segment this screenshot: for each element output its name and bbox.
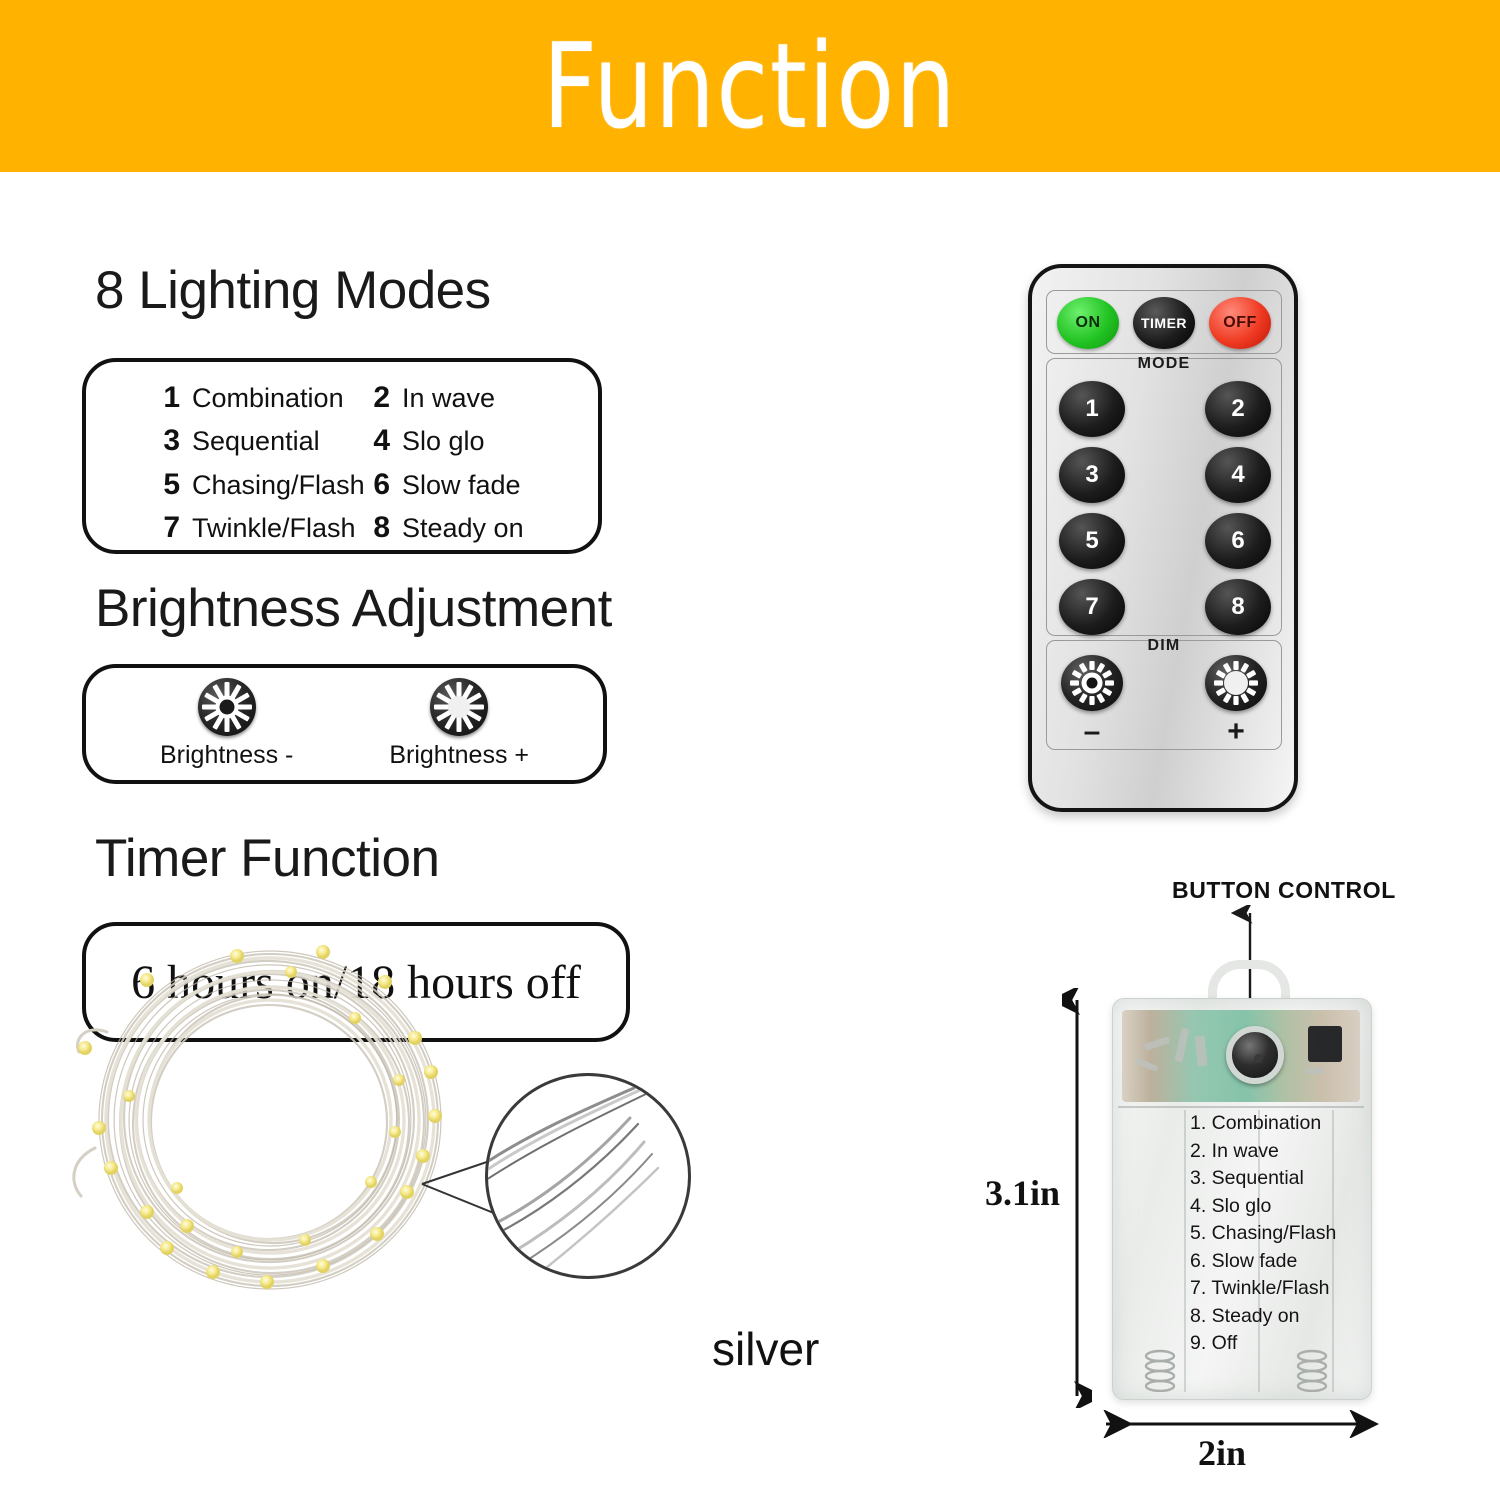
remote-dim-panel: DIM [1046,640,1282,750]
mode-label: Slo glo [402,426,485,457]
mode-item: 5 Chasing/Flash [86,468,356,502]
remote-mode-button-3[interactable]: 3 [1059,447,1125,503]
mode-label: Chasing/Flash [192,470,365,501]
remote-dim-down-icon[interactable] [1061,655,1123,711]
mode-label: Sequential [192,426,320,457]
remote-mode-button-5[interactable]: 5 [1059,513,1125,569]
remote-mode-button-6[interactable]: 6 [1205,513,1271,569]
remote-mode-button-7[interactable]: 7 [1059,579,1125,635]
battery-mode-item: 8. Steady on [1190,1303,1370,1331]
remote-mode-button-8[interactable]: 8 [1205,579,1271,635]
battery-spring [1140,1348,1180,1392]
mode-number: 3 [146,424,180,458]
brightness-box: Brightness - Bri [82,664,607,784]
mode-item: 1 Combination [86,381,356,415]
remote-dim-up-icon[interactable] [1205,655,1267,711]
remote-control[interactable]: ON TIMER OFF MODE 1 2 3 4 5 6 7 8 DIM [1028,264,1298,812]
remote-off-button[interactable]: OFF [1209,297,1271,349]
control-button[interactable] [1226,1026,1284,1084]
battery-mode-item: 9. Off [1190,1330,1370,1358]
mode-item: 8 Steady on [356,511,598,545]
height-dimension-label: 3.1in [985,1172,1060,1214]
wire-magnifier-circle [485,1073,691,1279]
mode-item: 3 Sequential [86,424,356,458]
brightness-plus-cell: Brightness + [389,678,529,770]
mode-number: 4 [356,424,390,458]
mode-label: In wave [402,383,495,414]
mode-number: 5 [146,468,180,502]
battery-box-mode-list: 1. Combination 2. In wave 3. Sequential … [1190,1110,1370,1358]
mode-label: Combination [192,383,344,414]
mode-number: 7 [146,511,180,545]
magnified-silver-wire [488,1076,688,1276]
brightness-heading: Brightness Adjustment [95,578,612,639]
battery-mode-item: 4. Slo glo [1190,1193,1370,1221]
coil-illustration [55,920,515,1320]
remote-mode-button-4[interactable]: 4 [1205,447,1271,503]
pcb-component [1308,1026,1342,1062]
page-title: Function [543,27,957,145]
battery-mode-item: 6. Slow fade [1190,1248,1370,1276]
battery-mode-item: 3. Sequential [1190,1165,1370,1193]
mode-panel-label: MODE [1047,355,1281,373]
header-banner: Function [0,0,1500,172]
cell-separator [1184,1110,1186,1392]
lighting-modes-box: 1 Combination 2 In wave 3 Sequential 4 S… [82,358,602,554]
brightness-minus-cell: Brightness - [160,678,293,770]
button-control-callout-label: BUTTON CONTROL [1172,877,1396,904]
battery-box: 1. Combination 2. In wave 3. Sequential … [1112,998,1370,1398]
mode-number: 6 [356,468,390,502]
mode-label: Twinkle/Flash [192,513,356,544]
brightness-plus-label: Brightness + [389,741,529,770]
brightness-up-icon [430,678,488,736]
brightness-minus-label: Brightness - [160,741,293,770]
sun-glyph [1061,655,1123,711]
height-dimension-arrow [1062,988,1092,1408]
mode-number: 2 [356,381,390,415]
remote-mode-panel: MODE 1 2 3 4 5 6 7 8 [1046,358,1282,636]
remote-mode-button-2[interactable]: 2 [1205,381,1271,437]
battery-mode-item: 1. Combination [1190,1110,1370,1138]
case-divider [1118,1106,1364,1108]
mode-number: 1 [146,381,180,415]
mode-label: Slow fade [402,470,521,501]
mode-item: 7 Twinkle/Flash [86,511,356,545]
brightness-down-icon [198,678,256,736]
battery-mode-item: 5. Chasing/Flash [1190,1220,1370,1248]
remote-timer-button[interactable]: TIMER [1133,297,1195,349]
dim-panel-label: DIM [1047,637,1281,655]
timer-heading: Timer Function [95,828,439,889]
mode-item: 6 Slow fade [356,468,598,502]
battery-mode-item: 2. In wave [1190,1138,1370,1166]
mode-number: 8 [356,511,390,545]
remote-on-button[interactable]: ON [1057,297,1119,349]
remote-mode-button-1[interactable]: 1 [1059,381,1125,437]
width-dimension-label: 2in [1198,1432,1246,1474]
remote-power-panel: ON TIMER OFF [1046,290,1282,354]
sun-glyph [1205,655,1267,711]
mode-item: 2 In wave [356,381,598,415]
dim-plus-label: + [1205,717,1267,747]
silver-material-label: silver [712,1322,819,1376]
lighting-modes-heading: 8 Lighting Modes [95,260,491,321]
mode-item: 4 Slo glo [356,424,598,458]
battery-mode-item: 7. Twinkle/Flash [1190,1275,1370,1303]
dim-minus-label: – [1061,717,1123,747]
led-string-coil-photo [55,920,515,1320]
mode-label: Steady on [402,513,524,544]
circuit-board [1122,1010,1360,1102]
